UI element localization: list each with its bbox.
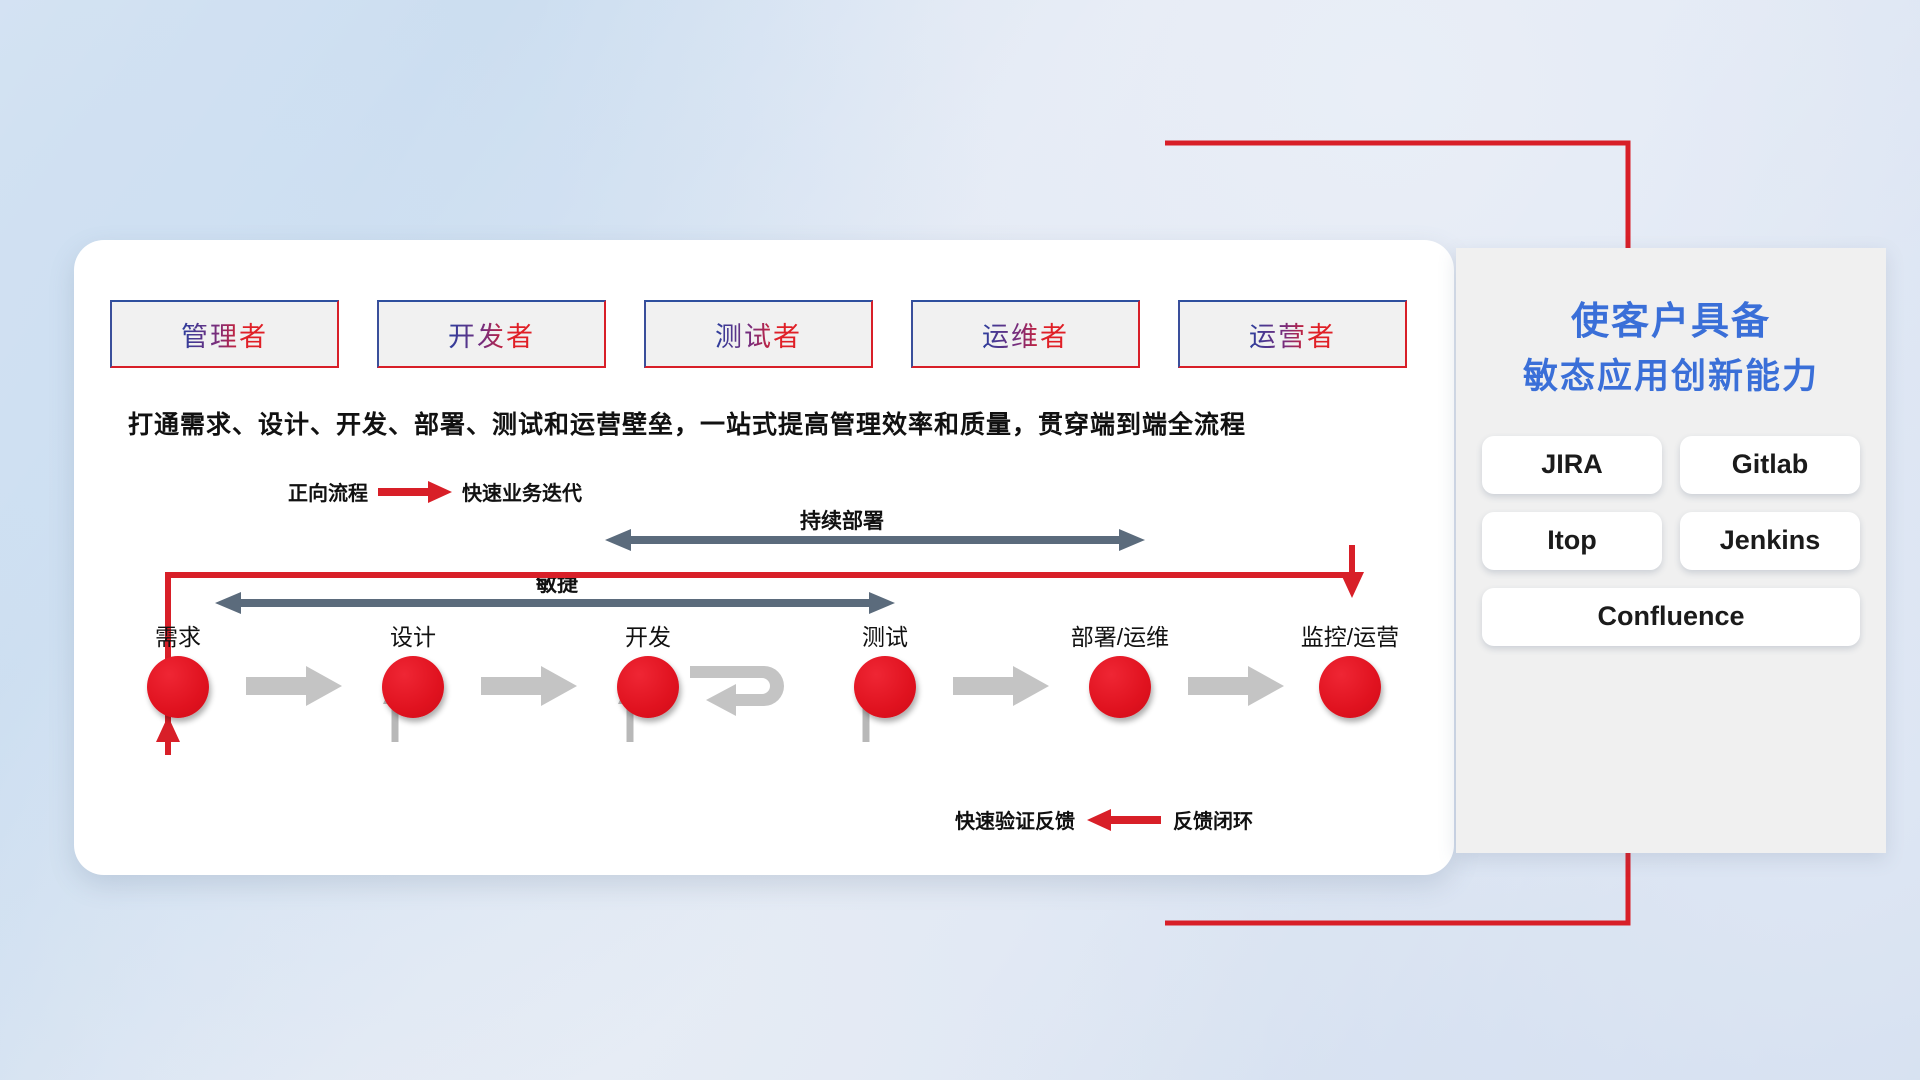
role-label: 开发者 (448, 315, 535, 354)
double-arrow-continuous-deployment (605, 527, 1145, 553)
role-box-row: 管理者 开发者 测试者 运维者 运营者 (110, 300, 1407, 368)
double-arrow-agile (215, 590, 895, 616)
flow-arrow-icon (1188, 666, 1284, 706)
pipeline-stage-deploy-ops[interactable]: 部署/运维 (1060, 618, 1180, 718)
flow-arrow-icon (246, 666, 342, 706)
tool-tag-jira[interactable]: JIRA (1482, 436, 1662, 494)
legend-forward-from: 正向流程 (288, 477, 368, 506)
role-box-tester[interactable]: 测试者 (644, 300, 873, 368)
pipeline-stage-monitor-operations[interactable]: 监控/运营 (1290, 618, 1410, 718)
stage-dot-icon (147, 656, 209, 718)
stage-dot-icon (1089, 656, 1151, 718)
legend-feedback-to: 反馈闭环 (1173, 805, 1253, 834)
stage-dot-icon (617, 656, 679, 718)
role-box-manager[interactable]: 管理者 (110, 300, 339, 368)
panel-title-line1: 使客户具备 (1456, 294, 1886, 351)
right-capability-panel: 使客户具备 敏态应用创新能力 JIRA Gitlab Itop Jenkins … (1456, 248, 1886, 853)
stage-dot-icon (382, 656, 444, 718)
legend-feedback-loop: 快速验证反馈 反馈闭环 (955, 805, 1253, 834)
headline-text: 打通需求、设计、开发、部署、测试和运营壁垒，一站式提高管理效率和质量，贯穿端到端… (128, 405, 1428, 441)
tool-tag-gitlab[interactable]: Gitlab (1680, 436, 1860, 494)
stage-label: 需求 (118, 618, 238, 652)
tool-tag-list: JIRA Gitlab Itop Jenkins Confluence (1456, 436, 1886, 646)
stage-label: 监控/运营 (1290, 618, 1410, 652)
legend-feedback-from: 快速验证反馈 (955, 805, 1075, 834)
panel-title-line2: 敏态应用创新能力 (1456, 351, 1886, 404)
tool-tag-confluence[interactable]: Confluence (1482, 588, 1860, 646)
role-label: 运营者 (1249, 315, 1336, 354)
panel-title: 使客户具备 敏态应用创新能力 (1456, 294, 1886, 404)
right-arrow-icon (378, 481, 452, 503)
role-box-ops[interactable]: 运维者 (911, 300, 1140, 368)
stage-label: 开发 (588, 618, 708, 652)
role-label: 测试者 (715, 315, 802, 354)
role-box-operations[interactable]: 运营者 (1178, 300, 1407, 368)
tool-tag-itop[interactable]: Itop (1482, 512, 1662, 570)
pipeline-stage-testing[interactable]: 测试 (825, 618, 945, 718)
stage-dot-icon (1319, 656, 1381, 718)
stage-label: 测试 (825, 618, 945, 652)
loop-back-arrow-icon (690, 658, 800, 720)
stage-dot-icon (854, 656, 916, 718)
legend-forward-to: 快速业务迭代 (462, 477, 582, 506)
pipeline-stage-design[interactable]: 设计 (353, 618, 473, 718)
flow-arrow-icon (953, 666, 1049, 706)
role-label: 运维者 (982, 315, 1069, 354)
stage-label: 设计 (353, 618, 473, 652)
legend-forward-flow: 正向流程 快速业务迭代 (288, 477, 582, 506)
pipeline-stage-requirements[interactable]: 需求 (118, 618, 238, 718)
pipeline-stage-row: 需求 设计 开发 测试 部署/运维 监控/运营 (118, 618, 1408, 728)
flow-arrow-icon (481, 666, 577, 706)
role-label: 管理者 (181, 315, 268, 354)
stage-label: 部署/运维 (1060, 618, 1180, 652)
left-arrow-icon (1087, 809, 1161, 831)
role-box-developer[interactable]: 开发者 (377, 300, 606, 368)
tool-tag-jenkins[interactable]: Jenkins (1680, 512, 1860, 570)
